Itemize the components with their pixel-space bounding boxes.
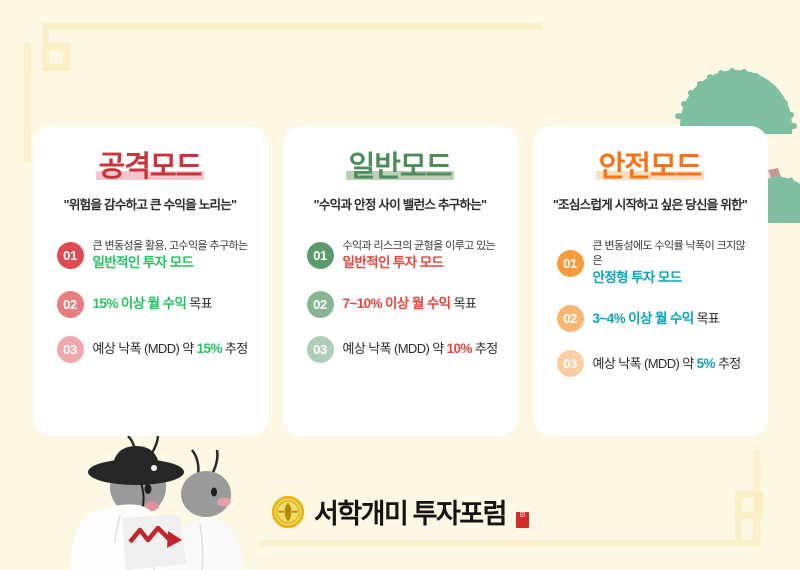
item-suffix-text: 목표 [186,296,212,311]
item-main-line: 3~4% 이상 월 수익 목표 [593,310,720,328]
item-suffix-text: 추정 [472,341,498,356]
item-text: 큰 변동성을 활용, 고수익을 추구하는일반적인 투자 모드 [93,239,248,272]
item-highlight-text: 5% [697,356,715,371]
item-highlight-text: 3~4% 이상 월 수익 [593,311,694,326]
item-highlight-text: 일반적인 투자 모드 [343,255,444,270]
item-main-line: 일반적인 투자 모드 [343,254,496,272]
mode-card[interactable]: 공격모드"위험을 감수하고 큰 수익을 노리는"01큰 변동성을 활용, 고수익… [33,126,268,436]
item-highlight-text: 15% 이상 월 수익 [93,296,187,311]
item-text: 큰 변동성에도 수익률 낙폭이 크지않은안정형 투자 모드 [593,239,752,287]
card-item-list: 01큰 변동성을 활용, 고수익을 추구하는일반적인 투자 모드0215% 이상… [49,239,252,362]
list-item: 023~4% 이상 월 수익 목표 [557,305,752,332]
card-item-list: 01수익과 리스크의 균형을 이루고 있는일반적인 투자 모드027~10% 이… [299,239,502,362]
list-item: 03예상 낙폭 (MDD) 약 15% 추정 [57,336,252,363]
list-item: 01큰 변동성에도 수익률 낙폭이 크지않은안정형 투자 모드 [557,239,752,287]
item-number-badge: 02 [57,291,84,318]
item-main-line: 일반적인 투자 모드 [93,254,248,272]
item-highlight-text: 15% [197,341,222,356]
item-main-line: 15% 이상 월 수익 목표 [93,295,213,313]
item-highlight-text: 일반적인 투자 모드 [93,255,194,270]
item-number-badge: 03 [57,336,84,363]
list-item: 03예상 낙폭 (MDD) 약 10% 추정 [307,336,502,363]
item-number-badge: 01 [307,242,334,269]
item-number-badge: 01 [557,250,584,277]
item-suffix-text: 추정 [715,356,741,371]
item-main-line: 예상 낙폭 (MDD) 약 10% 추정 [343,340,498,358]
mode-cards-container: 공격모드"위험을 감수하고 큰 수익을 노리는"01큰 변동성을 활용, 고수익… [0,126,800,436]
item-number-badge: 03 [557,350,584,377]
item-lead-text: 큰 변동성에도 수익률 낙폭이 크지않은 [593,239,752,269]
item-text: 3~4% 이상 월 수익 목표 [593,310,720,328]
card-item-list: 01큰 변동성에도 수익률 낙폭이 크지않은안정형 투자 모드023~4% 이상… [549,239,752,377]
deco-horizontal-line [42,23,542,30]
card-title-wrap: 일반모드 [349,152,452,182]
card-subtitle: "위험을 감수하고 큰 수익을 노리는" [64,194,237,213]
deco-horizontal-line [260,540,760,547]
mode-card[interactable]: 일반모드"수익과 안정 사이 밸런스 추구하는"01수익과 리스크의 균형을 이… [283,126,518,436]
card-title-wrap: 공격모드 [99,152,202,182]
card-subtitle: "조심스럽게 시작하고 싶은 당신을 위한" [553,194,747,213]
deco-square [42,43,70,71]
item-suffix-text: 추정 [222,341,248,356]
item-main-line: 예상 낙폭 (MDD) 약 5% 추정 [593,355,741,373]
gold-coin-icon [271,495,305,529]
card-subtitle: "수익과 안정 사이 밸런스 추구하는" [314,194,487,213]
item-suffix-text: 목표 [450,296,476,311]
deco-vertical-stub [42,23,49,51]
list-item: 03예상 낙폭 (MDD) 약 5% 추정 [557,350,752,377]
item-text: 예상 낙폭 (MDD) 약 10% 추정 [343,340,498,358]
list-item: 01수익과 리스크의 균형을 이루고 있는일반적인 투자 모드 [307,239,502,272]
item-highlight-text: 안정형 투자 모드 [593,270,682,285]
brand-name: 서학개미 투자포럼 [314,492,506,531]
list-item: 0215% 이상 월 수익 목표 [57,291,252,318]
card-title: 일반모드 [349,152,452,182]
item-number-badge: 02 [307,291,334,318]
item-text: 15% 이상 월 수익 목표 [93,295,213,313]
red-seal-stamp-icon: 印 [516,512,529,528]
item-text: 예상 낙폭 (MDD) 약 15% 추정 [93,340,248,358]
card-title: 공격모드 [99,152,202,182]
item-number-badge: 02 [557,305,584,332]
item-main-line: 예상 낙폭 (MDD) 약 15% 추정 [93,340,248,358]
item-text: 7~10% 이상 월 수익 목표 [343,295,477,313]
item-prefix-text: 예상 낙폭 (MDD) 약 [343,341,447,356]
item-lead-text: 큰 변동성을 활용, 고수익을 추구하는 [93,239,248,254]
mode-card[interactable]: 안전모드"조심스럽게 시작하고 싶은 당신을 위한"01큰 변동성에도 수익률 … [533,126,768,436]
item-suffix-text: 목표 [694,311,720,326]
item-number-badge: 01 [57,242,84,269]
list-item: 01큰 변동성을 활용, 고수익을 추구하는일반적인 투자 모드 [57,239,252,272]
card-title-wrap: 안전모드 [599,152,702,182]
item-text: 예상 낙폭 (MDD) 약 5% 추정 [593,355,741,373]
item-main-line: 7~10% 이상 월 수익 목표 [343,295,477,313]
item-lead-text: 수익과 리스크의 균형을 이루고 있는 [343,239,496,254]
item-number-badge: 03 [307,336,334,363]
item-highlight-text: 7~10% 이상 월 수익 [343,296,451,311]
item-prefix-text: 예상 낙폭 (MDD) 약 [93,341,197,356]
item-text: 수익과 리스크의 균형을 이루고 있는일반적인 투자 모드 [343,239,496,272]
item-prefix-text: 예상 낙폭 (MDD) 약 [593,356,697,371]
list-item: 027~10% 이상 월 수익 목표 [307,291,502,318]
item-main-line: 안정형 투자 모드 [593,269,752,287]
card-title: 안전모드 [599,152,702,182]
item-highlight-text: 10% [447,341,472,356]
footer-brand: 서학개미 투자포럼 印 [0,492,800,531]
